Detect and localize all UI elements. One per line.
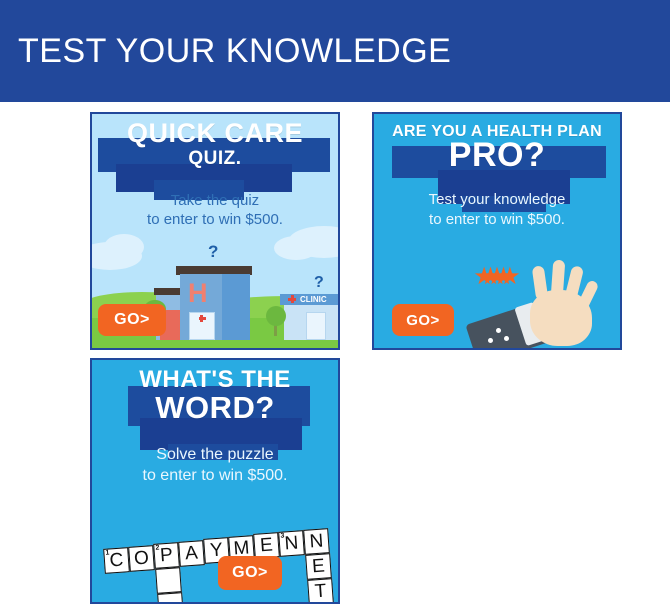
- crossword-cell: 1 C: [103, 547, 130, 574]
- crossword-cell: A: [178, 540, 205, 567]
- crossword-letter: N: [309, 530, 324, 553]
- card-body-text: Take the quiz to enter to win $500.: [92, 192, 338, 230]
- crossword-clue-number: 1: [105, 549, 109, 556]
- question-mark-icon: ?: [208, 242, 218, 262]
- question-mark-icon: ?: [314, 274, 324, 292]
- card-body-line-1: Solve the puzzle: [92, 445, 338, 466]
- card-title-secondary: WORD?: [92, 392, 338, 423]
- clinic-cross-icon: [291, 295, 294, 303]
- crossword-cell: N: [303, 528, 330, 555]
- crossword-cell: E: [305, 553, 332, 580]
- promo-cards-grid: QUICK CARE QUIZ. Take the quiz to enter …: [0, 102, 670, 613]
- crossword-cell: T: [307, 578, 334, 604]
- promo-card-health-plan-pro[interactable]: ARE YOU A HEALTH PLAN PRO? Test your kno…: [372, 112, 622, 350]
- go-button[interactable]: GO>: [98, 304, 166, 336]
- hospital-h-sign: H: [188, 278, 208, 309]
- crossword-letter: C: [109, 549, 124, 572]
- card-body-line-1: Take the quiz: [92, 192, 338, 211]
- crossword-letter: E: [259, 534, 273, 557]
- crossword-cell: O: [128, 545, 155, 572]
- card-title-secondary: PRO?: [374, 138, 620, 172]
- crossword-puzzle: 1 C O 2 P A Y M E 3 N: [92, 512, 338, 604]
- card-title-block: ARE YOU A HEALTH PLAN PRO?: [374, 124, 620, 172]
- card-title-primary: WHAT'S THE: [92, 368, 338, 392]
- cloud-icon: [104, 234, 144, 260]
- crossword-letter: P: [159, 544, 173, 567]
- page-header: TEST YOUR KNOWLEDGE: [0, 0, 670, 102]
- crossword-clue-number: 2: [155, 544, 159, 551]
- cloud-icon: [274, 236, 318, 260]
- card-title-primary: QUICK CARE: [92, 120, 338, 147]
- card-body-line-2: to enter to win $500.: [374, 210, 620, 230]
- card-body-line-1: Test your knowledge: [374, 190, 620, 210]
- card-title-block: QUICK CARE QUIZ.: [92, 120, 338, 168]
- crossword-cell-empty: [157, 592, 184, 604]
- crossword-cell-empty: [155, 567, 182, 594]
- red-cross-icon: [200, 315, 203, 322]
- clinic-door: [306, 312, 326, 340]
- crossword-cell: 3 N: [278, 530, 305, 557]
- card-body-line-2: to enter to win $500.: [92, 211, 338, 230]
- promo-card-quick-care-quiz[interactable]: QUICK CARE QUIZ. Take the quiz to enter …: [90, 112, 340, 350]
- go-button[interactable]: GO>: [392, 304, 454, 336]
- tree-foliage: [266, 306, 286, 326]
- clinic-sign-label: CLINIC: [300, 295, 327, 304]
- card-body-text: Solve the puzzle to enter to win $500.: [92, 445, 338, 487]
- hospital-glass-tower: [222, 274, 250, 340]
- go-button[interactable]: GO>: [218, 556, 282, 590]
- sleeve-button: [504, 336, 509, 341]
- crossword-cell: E: [253, 532, 280, 559]
- card-body-text: Test your knowledge to enter to win $500…: [374, 190, 620, 229]
- crossword-letter: A: [184, 542, 198, 565]
- card-title-block: WHAT'S THE WORD?: [92, 368, 338, 423]
- crossword-letter: N: [284, 532, 299, 555]
- page-title: TEST YOUR KNOWLEDGE: [0, 32, 451, 71]
- crossword-letter: T: [314, 580, 327, 603]
- promo-card-whats-the-word[interactable]: WHAT'S THE WORD? Solve the puzzle to ent…: [90, 358, 340, 604]
- star-glyph: ★: [499, 265, 521, 289]
- star-rating: ★ ★ ★ ★ ★: [374, 264, 620, 282]
- crossword-letter: E: [311, 555, 325, 578]
- sleeve-button: [496, 328, 501, 333]
- crossword-letter: O: [133, 547, 149, 570]
- card-title-secondary: QUIZ.: [92, 149, 338, 168]
- card-body-line-2: to enter to win $500.: [92, 466, 338, 487]
- crossword-cell: 2 P: [153, 542, 180, 569]
- sleeve-button: [488, 338, 493, 343]
- crossword-clue-number: 3: [280, 532, 284, 539]
